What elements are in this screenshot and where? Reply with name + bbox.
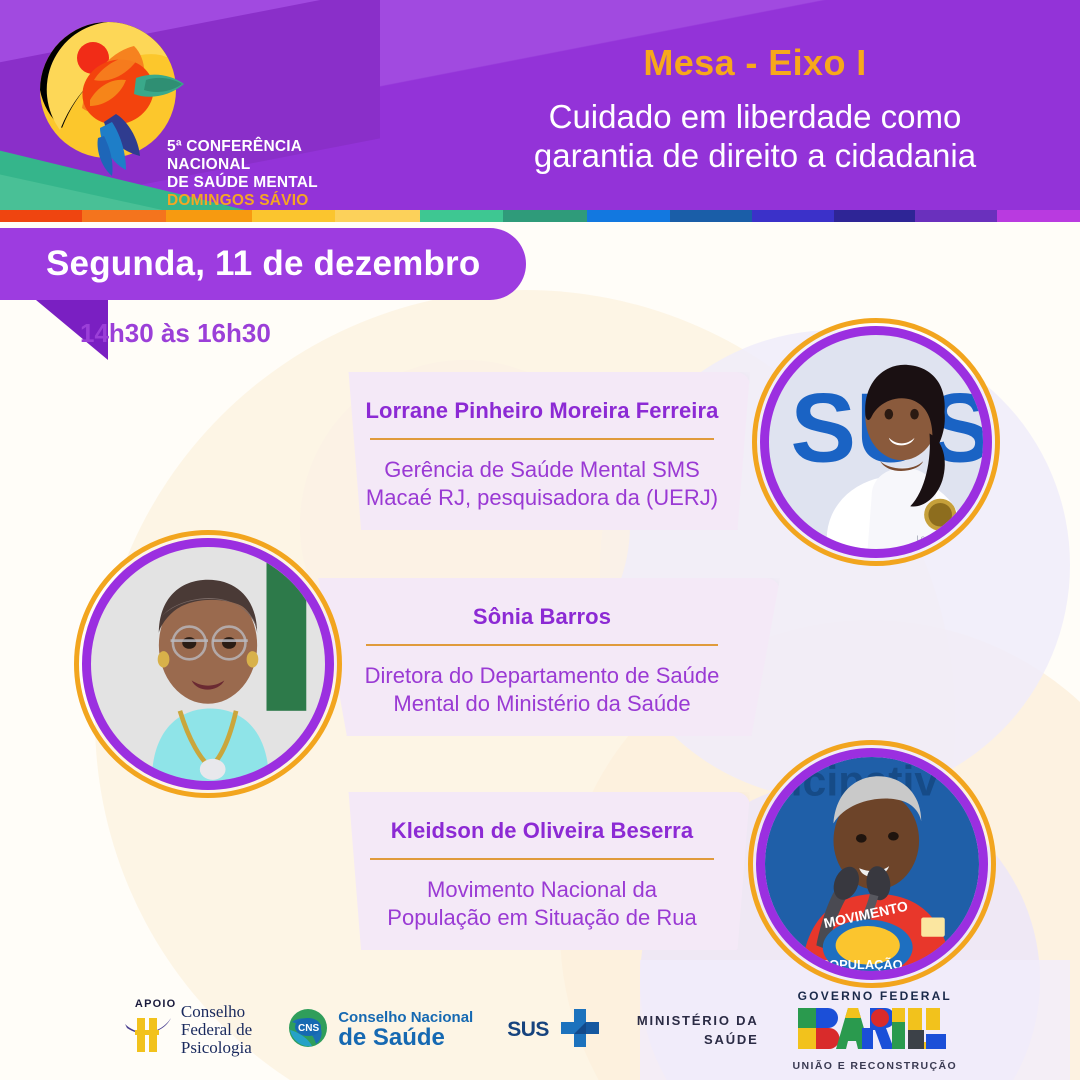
speaker-photo-sonia — [74, 530, 342, 798]
speaker-role: Movimento Nacional da População em Situa… — [364, 876, 720, 932]
speaker-role: Diretora do Departamento de Saúde Mental… — [334, 662, 750, 718]
logo-line-3: DE SAÚDE MENTAL — [167, 174, 318, 192]
stripe-segment-7 — [587, 210, 670, 222]
header-subtitle-line-1: Cuidado em liberdade como — [430, 98, 1080, 137]
cns-text: Conselho Nacional de Saúde — [338, 1010, 473, 1050]
logo-line-2: NACIONAL — [167, 156, 318, 174]
logo-ministerio-da-saude: MINISTÉRIO DA SAÚDE — [637, 1011, 759, 1050]
stripe-segment-10 — [834, 210, 916, 222]
color-stripe — [0, 210, 1080, 222]
speaker-name: Lorrane Pinheiro Moreira Ferreira — [364, 398, 720, 424]
poster-canvas: 5ª CONFERÊNCIA NACIONAL DE SAÚDE MENTAL … — [0, 0, 1080, 1080]
card-divider — [370, 858, 714, 860]
logo-sus: SUS — [507, 1005, 603, 1056]
speaker-role-line-2: População em Situação de Rua — [364, 904, 720, 932]
ministerio-text: MINISTÉRIO DA SAÚDE — [637, 1011, 759, 1050]
header-subtitle: Cuidado em liberdade como garantia de di… — [430, 98, 1080, 176]
stripe-segment-11 — [915, 210, 997, 222]
cfp-line-2: Federal de — [181, 1021, 252, 1039]
speaker-card: Sônia Barros Diretora do Departamento de… — [304, 578, 780, 736]
logo-line-1: 5ª CONFERÊNCIA — [167, 138, 318, 156]
photo-ring-orange — [748, 740, 996, 988]
logo-governo-federal: GOVERNO FEDERAL — [793, 989, 958, 1072]
stripe-segment-0 — [0, 210, 82, 222]
cfp-text: Conselho Federal de Psicologia — [181, 1003, 252, 1057]
speaker-card: Lorrane Pinheiro Moreira Ferreira Gerênc… — [334, 372, 750, 530]
cns-globe-icon: CNS — [286, 1006, 330, 1055]
cns-line-2: de Saúde — [338, 1025, 473, 1050]
speaker-photo-kleidson: icipativ MOVIMENTO POPULAÇÃO — [748, 740, 996, 988]
speaker-role-line-2: Mental do Ministério da Saúde — [334, 690, 750, 718]
stripe-segment-3 — [252, 210, 335, 222]
ministerio-line-2: SAÚDE — [637, 1030, 759, 1050]
cfp-line-3: Psicologia — [181, 1039, 252, 1057]
speaker-photo-lorrane: SUS Lorrane Pinheiro — [752, 318, 1000, 566]
sus-cross-icon — [557, 1005, 603, 1056]
speaker-role-line-1: Gerência de Saúde Mental SMS — [364, 456, 720, 484]
brasil-wordmark-icon — [796, 1006, 954, 1057]
logo-conselho-nacional-saude: CNS Conselho Nacional de Saúde — [286, 1006, 473, 1055]
logo-line-4: DOMINGOS SÁVIO — [167, 192, 318, 210]
governo-top-label: GOVERNO FEDERAL — [798, 989, 952, 1003]
stripe-segment-2 — [166, 210, 252, 222]
stripe-segment-9 — [752, 210, 834, 222]
stripe-segment-8 — [670, 210, 752, 222]
cns-line-1: Conselho Nacional — [338, 1010, 473, 1025]
footer-logos: APOIO Conselho Federal de Psicologia — [0, 980, 1080, 1080]
conference-logo-text: 5ª CONFERÊNCIA NACIONAL DE SAÚDE MENTAL … — [167, 138, 318, 210]
cfp-mark-icon — [123, 1002, 173, 1059]
photo-ring-orange — [74, 530, 342, 798]
date-banner: Segunda, 11 de dezembro — [0, 228, 526, 300]
speaker-card: Kleidson de Oliveira Beserra Movimento N… — [334, 792, 750, 950]
speaker-role: Gerência de Saúde Mental SMS Macaé RJ, p… — [364, 456, 720, 512]
speaker-role-line-1: Diretora do Departamento de Saúde — [334, 662, 750, 690]
ministerio-line-1: MINISTÉRIO DA — [637, 1011, 759, 1031]
stripe-segment-12 — [997, 210, 1080, 222]
speaker-role-line-1: Movimento Nacional da — [364, 876, 720, 904]
sus-word: SUS — [507, 1018, 549, 1042]
logo-conselho-federal-psicologia: APOIO Conselho Federal de Psicologia — [123, 1002, 252, 1059]
governo-bottom-label: UNIÃO E RECONSTRUÇÃO — [793, 1060, 958, 1072]
header-subtitle-line-2: garantia de direito a cidadania — [430, 137, 1080, 176]
card-divider — [370, 438, 714, 440]
apoio-label: APOIO — [135, 998, 176, 1010]
date-label: Segunda, 11 de dezembro — [46, 244, 480, 284]
eixo-title: Mesa - Eixo I — [430, 42, 1080, 84]
stripe-segment-5 — [420, 210, 503, 222]
svg-text:CNS: CNS — [298, 1023, 319, 1034]
poster-header: 5ª CONFERÊNCIA NACIONAL DE SAÚDE MENTAL … — [0, 0, 1080, 210]
speaker-name: Sônia Barros — [334, 604, 750, 630]
stripe-segment-1 — [82, 210, 166, 222]
cfp-line-1: Conselho — [181, 1003, 252, 1021]
speaker-name: Kleidson de Oliveira Beserra — [364, 818, 720, 844]
stripe-segment-6 — [503, 210, 587, 222]
header-title-block: Mesa - Eixo I Cuidado em liberdade como … — [430, 42, 1080, 176]
speaker-role-line-2: Macaé RJ, pesquisadora da (UERJ) — [364, 484, 720, 512]
card-divider — [366, 644, 718, 646]
stripe-segment-4 — [335, 210, 419, 222]
time-label: 14h30 às 16h30 — [80, 318, 271, 349]
conference-logo: 5ª CONFERÊNCIA NACIONAL DE SAÚDE MENTAL … — [30, 18, 330, 203]
photo-ring-orange — [752, 318, 1000, 566]
